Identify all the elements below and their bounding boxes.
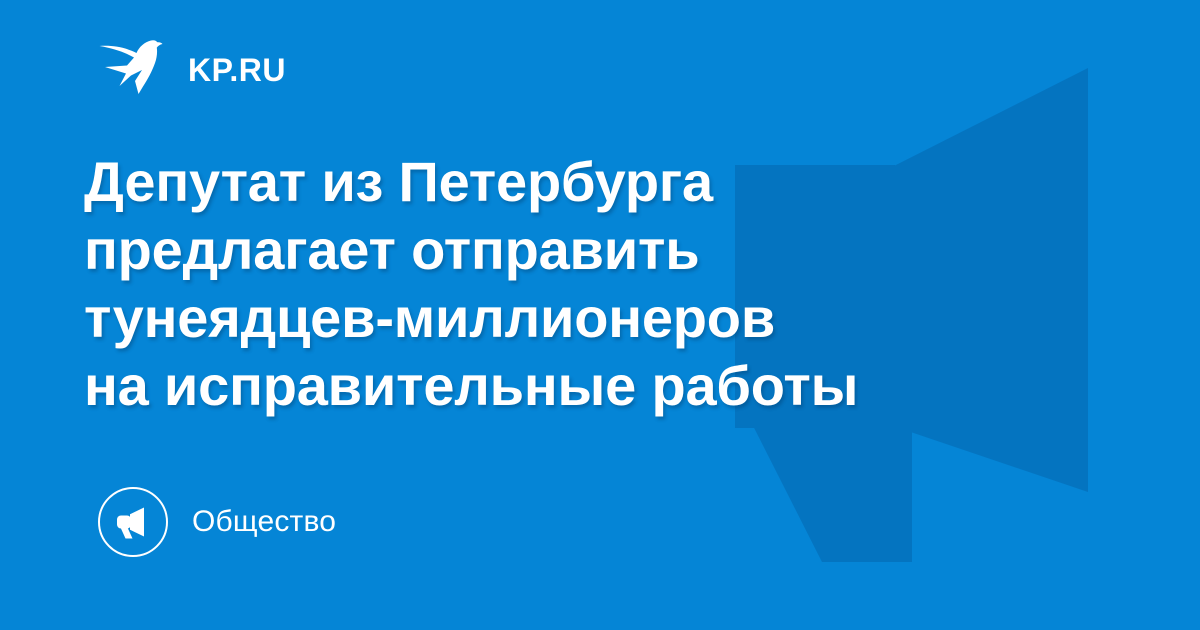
headline: Депутат из Петербурга предлагает отправи… bbox=[84, 148, 1084, 420]
headline-line: тунеядцев-миллионеров bbox=[84, 284, 1084, 352]
headline-line: предлагает отправить bbox=[84, 216, 1084, 284]
headline-line: на исправительные работы bbox=[84, 352, 1084, 420]
swallow-bird-icon bbox=[98, 34, 170, 106]
category-icon-circle bbox=[98, 487, 168, 557]
logo-wordmark: KP.RU bbox=[188, 54, 286, 86]
social-share-card: KP.RU Депутат из Петербурга предлагает о… bbox=[0, 0, 1200, 630]
category-badge[interactable]: Общество bbox=[98, 487, 336, 557]
category-label: Общество bbox=[192, 507, 336, 537]
headline-line: Депутат из Петербурга bbox=[84, 148, 1084, 216]
megaphone-icon bbox=[113, 502, 153, 542]
site-logo[interactable]: KP.RU bbox=[98, 34, 286, 106]
